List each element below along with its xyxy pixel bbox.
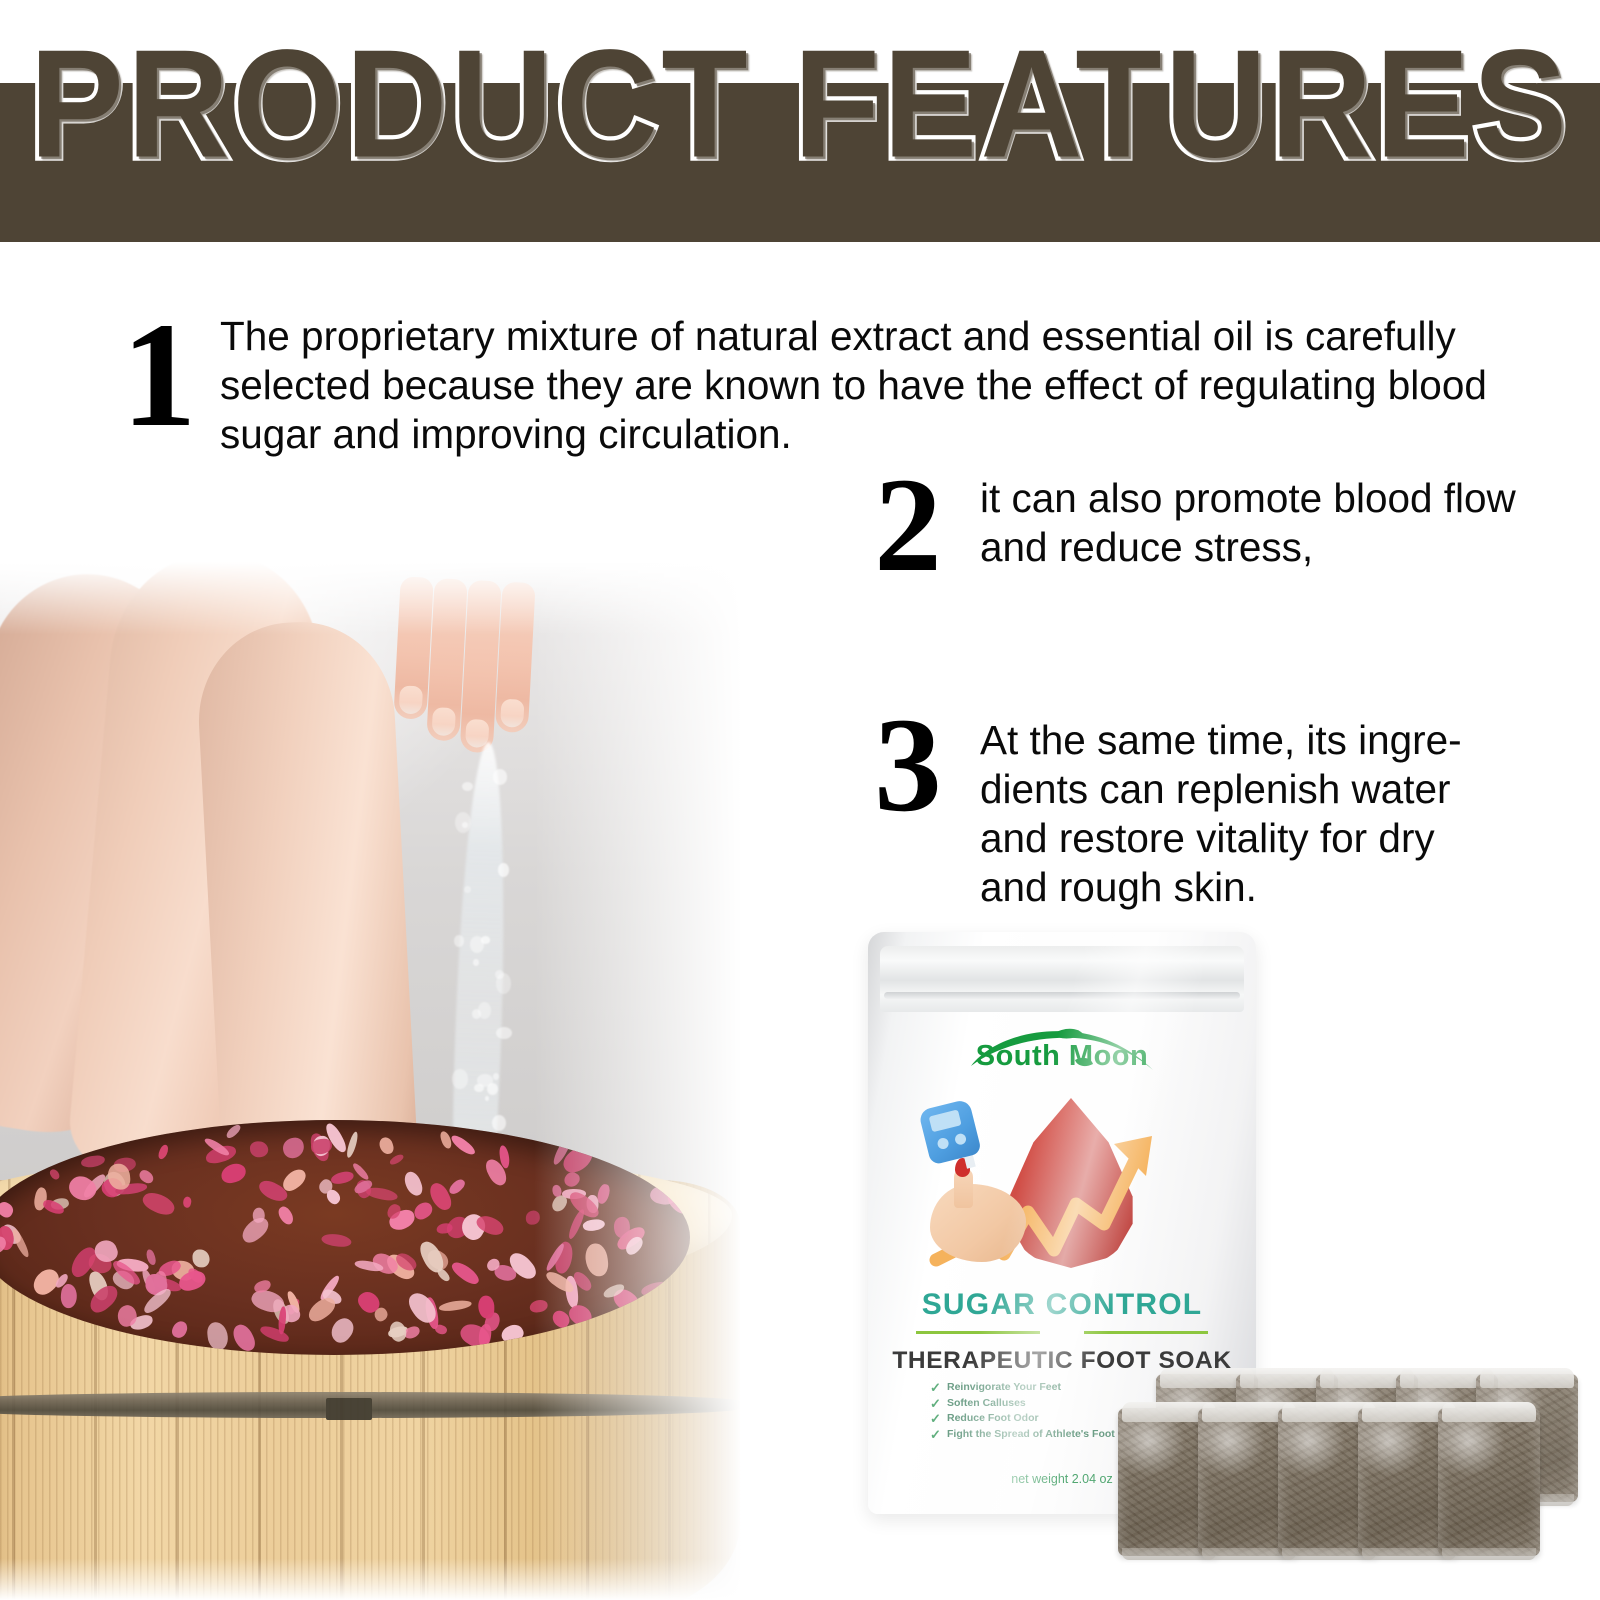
water-droplet xyxy=(498,863,509,877)
rose-petal xyxy=(450,1259,482,1288)
product-title-block: SUGAR CONTROL THERAPEUTIC FOOT SOAK xyxy=(868,1288,1256,1375)
hand-icon xyxy=(930,1184,1026,1262)
page-title: PRODUCT FEATURES xyxy=(0,19,1600,190)
rose-petal xyxy=(321,1231,352,1248)
rose-petal xyxy=(81,1154,106,1168)
rose-petal xyxy=(436,1267,452,1284)
rose-petal xyxy=(478,1295,494,1318)
rose-petal xyxy=(59,1284,78,1310)
rose-petal xyxy=(193,1249,210,1268)
water-droplet xyxy=(478,1002,491,1019)
rose-petal xyxy=(49,1167,62,1181)
bag-zipper-seal xyxy=(880,946,1244,1012)
rose-petal xyxy=(0,1200,16,1220)
bucket-water xyxy=(0,1120,690,1355)
rose-petal xyxy=(584,1242,610,1277)
pouring-hand xyxy=(391,576,548,763)
sachet xyxy=(1438,1408,1540,1556)
rose-petal xyxy=(224,1123,242,1140)
meter-button xyxy=(936,1137,949,1150)
check-icon: ✓ xyxy=(930,1380,943,1396)
rose-petal xyxy=(412,1199,436,1221)
benefit-label: Reinvigorate Your Feet xyxy=(947,1380,1061,1396)
rose-petal xyxy=(526,1211,541,1226)
water-droplet xyxy=(452,1069,467,1089)
check-icon: ✓ xyxy=(930,1396,943,1412)
feature-item-3: 3 At the same time, its ingre-dients can… xyxy=(858,702,1558,912)
rose-petal xyxy=(157,1144,171,1161)
rose-petal xyxy=(449,1132,477,1157)
water-droplet xyxy=(477,1074,493,1086)
check-icon: ✓ xyxy=(930,1411,943,1427)
rose-petal xyxy=(170,1319,189,1340)
benefit-label: Soften Calluses xyxy=(947,1396,1026,1412)
rose-petal xyxy=(219,1161,248,1185)
feature-number-3: 3 xyxy=(858,704,958,828)
water-droplet xyxy=(493,1073,499,1079)
feature-number-1: 1 xyxy=(104,306,214,444)
rose-petal xyxy=(145,1248,157,1265)
feature-item-2: 2 it can also promote blood flow and red… xyxy=(858,462,1558,588)
brand-name: South Moon xyxy=(868,1040,1256,1073)
rose-petal xyxy=(207,1322,230,1352)
benefit-label: Reduce Foot Odor xyxy=(947,1411,1039,1427)
rose-petal xyxy=(402,1169,425,1197)
water-droplet xyxy=(462,822,469,828)
rose-petal xyxy=(275,1204,296,1227)
rose-petal xyxy=(327,1314,358,1346)
product-title: SUGAR CONTROL xyxy=(868,1288,1256,1322)
rose-petal xyxy=(345,1130,360,1158)
rose-petal xyxy=(238,1213,273,1246)
feature-number-2: 2 xyxy=(858,464,958,588)
rose-petal xyxy=(310,1138,332,1154)
water-droplet xyxy=(454,935,464,946)
bucket-metal-band xyxy=(0,1392,740,1418)
meter-screen xyxy=(929,1109,962,1132)
rose-petal xyxy=(330,1170,354,1185)
finger xyxy=(495,582,536,734)
check-icon: ✓ xyxy=(930,1427,943,1443)
wooden-bucket xyxy=(0,1092,740,1600)
water-droplet xyxy=(493,769,507,784)
rose-petal xyxy=(388,1153,405,1166)
feature-text-1: The proprietary mixture of natural extra… xyxy=(220,312,1500,459)
rose-petal xyxy=(365,1184,399,1202)
feature-text-2: it can also promote blood flow and reduc… xyxy=(980,474,1550,572)
tea-bag-sachets xyxy=(1118,1368,1568,1600)
rose-petal xyxy=(377,1136,394,1156)
feature-text-3: At the same time, its ingre-dients can r… xyxy=(980,716,1500,912)
rose-petal xyxy=(230,1322,258,1355)
rose-petal xyxy=(281,1136,305,1160)
title-divider xyxy=(916,1331,1208,1334)
brand-logo: South Moon xyxy=(868,1040,1256,1073)
divider-right xyxy=(1084,1331,1208,1334)
rose-petal xyxy=(529,1299,548,1313)
feature-item-1: 1 The proprietary mixture of natural ext… xyxy=(104,300,1524,459)
rose-petal xyxy=(183,1196,193,1208)
rose-petal xyxy=(259,1324,290,1345)
rose-petal xyxy=(249,1140,269,1158)
rose-petal xyxy=(350,1161,369,1182)
rose-petal xyxy=(386,1319,409,1344)
product-hero-graphic xyxy=(908,1092,1216,1282)
rose-petal xyxy=(438,1299,472,1312)
divider-left xyxy=(916,1331,1040,1334)
rose-petal xyxy=(582,1217,606,1232)
rose-petal xyxy=(447,1177,467,1197)
meter-button xyxy=(954,1132,967,1145)
footbath-photo xyxy=(0,562,742,1600)
water-droplet xyxy=(481,936,491,943)
rose-petal xyxy=(434,1323,448,1336)
rose-petal xyxy=(139,1189,177,1220)
